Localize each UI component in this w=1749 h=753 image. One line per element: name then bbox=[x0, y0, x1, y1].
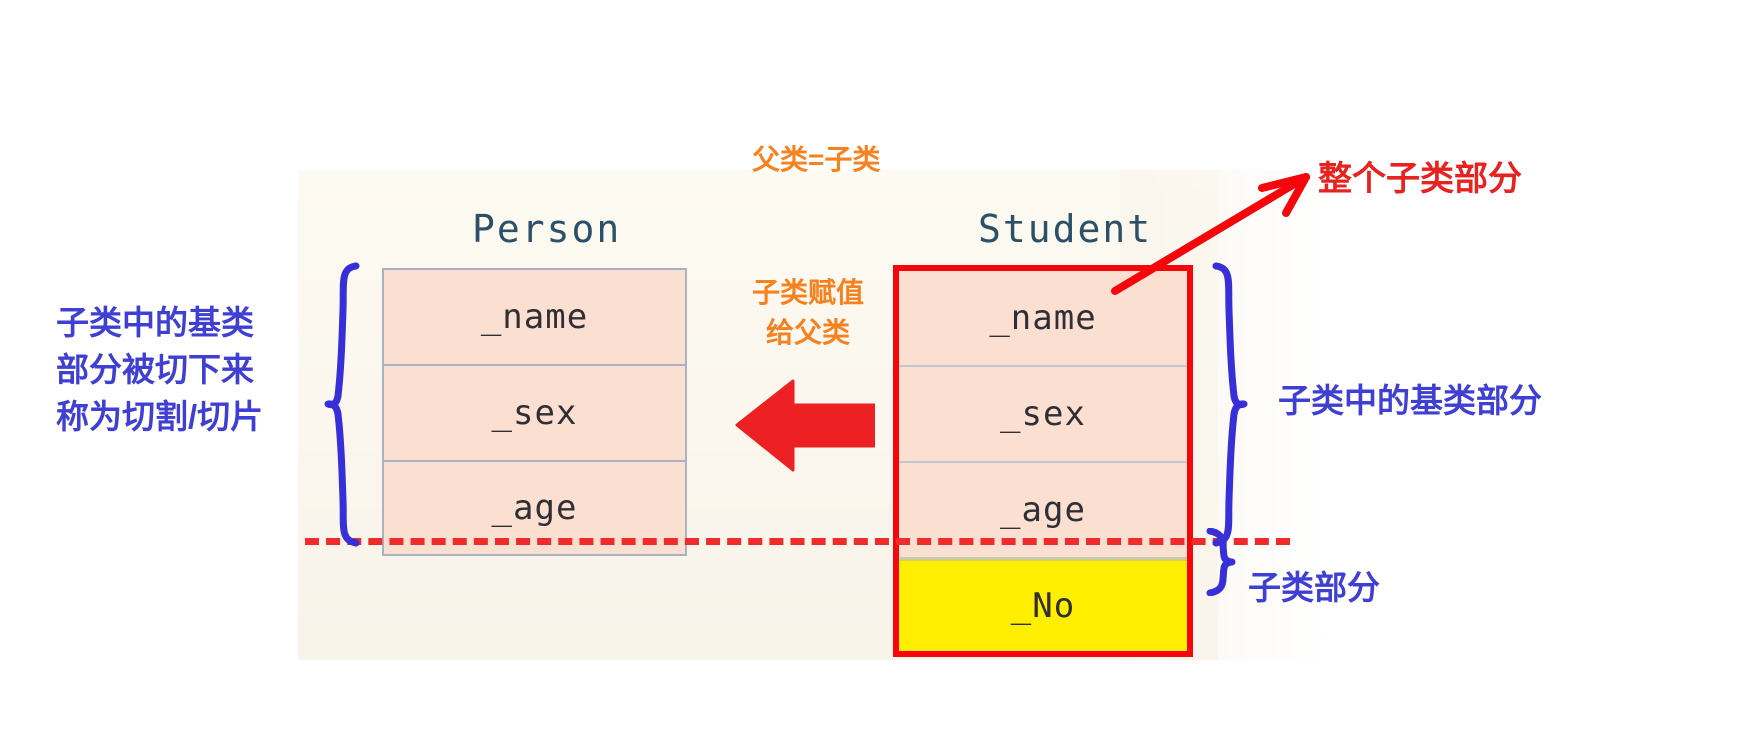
diagram-canvas: Person _name _sex _age Student _name _se… bbox=[0, 0, 1749, 753]
curly-brace-icon bbox=[322, 262, 370, 547]
annotation-parent-equals-child: 父类=子类 bbox=[752, 140, 880, 180]
curly-brace-icon bbox=[1198, 528, 1244, 596]
student-field-row: _sex bbox=[899, 367, 1187, 463]
annotation-slicing-note: 子类中的基类 部分被切下来 称为切割/切片 bbox=[56, 300, 263, 441]
person-field-row: _name bbox=[382, 268, 687, 364]
annotation-base-part: 子类中的基类部分 bbox=[1278, 378, 1542, 425]
student-derived-field-row: _No bbox=[899, 559, 1187, 651]
person-member-table: _name _sex _age bbox=[382, 268, 687, 556]
annotation-derived-part: 子类部分 bbox=[1248, 565, 1380, 612]
student-member-table: _name _sex _age _No bbox=[893, 265, 1193, 657]
left-arrow-icon bbox=[735, 378, 875, 473]
curly-brace-icon bbox=[1202, 262, 1250, 547]
person-field-row: _sex bbox=[382, 364, 687, 460]
arrow-pointer-icon bbox=[1110, 165, 1320, 295]
dashed-line-icon bbox=[305, 538, 1290, 545]
annotation-assign-direction: 子类赋值 给父类 bbox=[752, 273, 864, 353]
annotation-whole-child-part: 整个子类部分 bbox=[1318, 155, 1522, 203]
person-class-title: Person bbox=[472, 207, 621, 251]
